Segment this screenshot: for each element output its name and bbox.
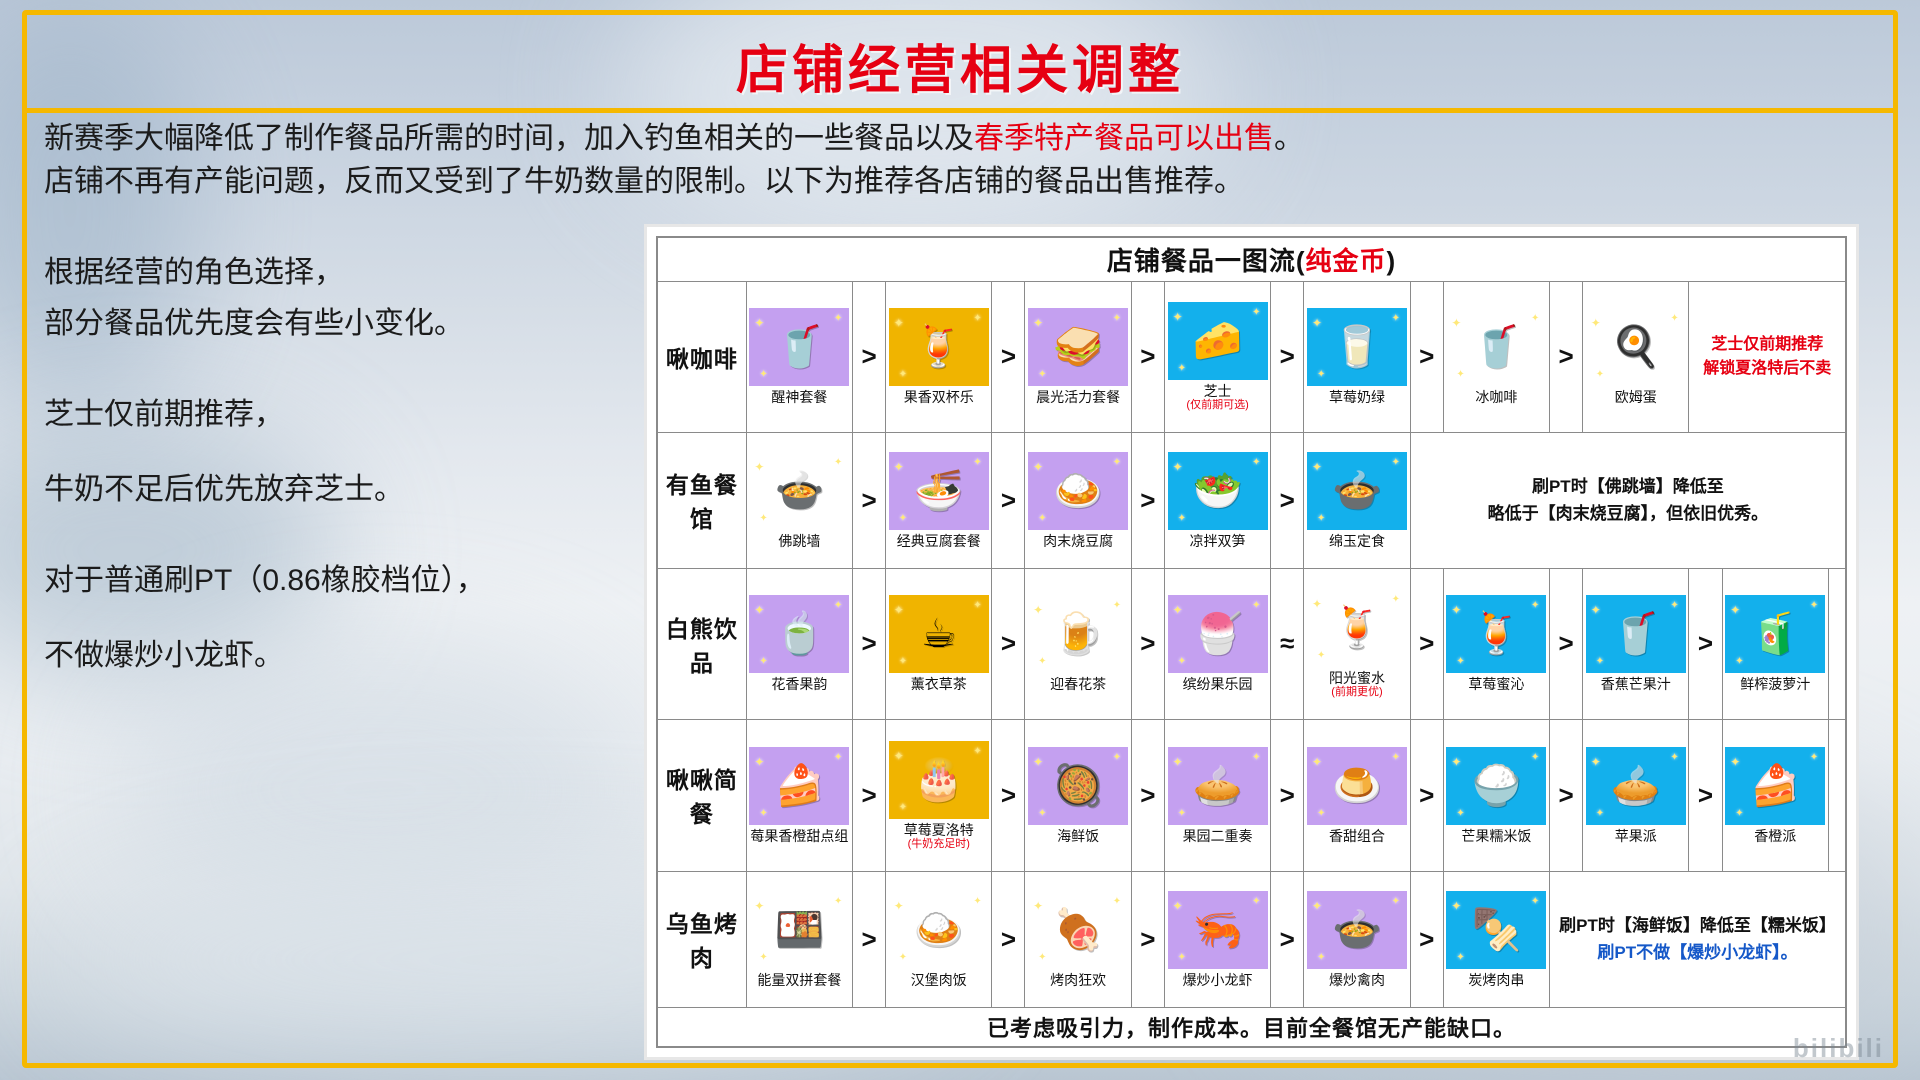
dish-cell[interactable]: 🍺✦✦✦迎春花茶 (1025, 568, 1131, 720)
dish-image: 🍧✦✦✦ (1168, 595, 1268, 673)
priority-arrow: > (1271, 281, 1304, 433)
priority-arrow: > (1410, 720, 1443, 872)
priority-arrow: > (1550, 720, 1583, 872)
dish-cell[interactable]: 🍲✦✦✦佛跳墙 (746, 433, 852, 569)
dish-image: 🧀✦✦✦ (1168, 302, 1268, 380)
sparkle-icon: ✦ (1531, 313, 1539, 324)
sparkle-icon: ✦ (1252, 307, 1260, 318)
page-title: 店铺经营相关调整 (0, 28, 1920, 103)
dish-image: 🍲✦✦✦ (1307, 891, 1407, 969)
sparkle-icon: ✦ (973, 746, 981, 757)
dish-card[interactable]: 🥧✦✦✦苹果派 (1583, 744, 1688, 847)
dish-cell[interactable]: 🍛✦✦✦汉堡肉饭 (886, 871, 992, 1007)
dish-glyph-icon: 🥤 (774, 327, 824, 367)
sparkle-icon: ✦ (1113, 457, 1121, 468)
dish-name-text: 香橙派 (1754, 828, 1796, 844)
row-note (1829, 568, 1847, 720)
shop-name-0: 啾咖啡 (657, 281, 746, 433)
dish-card[interactable]: 🥤✦✦✦香蕉芒果汁 (1583, 592, 1688, 695)
sparkle-icon: ✦ (1591, 316, 1601, 330)
dish-glyph-icon: 🍛 (1053, 471, 1103, 511)
dish-name: 芒果糯米饭 (1460, 827, 1532, 847)
sparkle-icon: ✦ (759, 808, 767, 819)
dish-name-text: 经典豆腐套餐 (897, 533, 981, 549)
sparkle-icon: ✦ (1113, 600, 1121, 611)
sparkle-icon: ✦ (834, 457, 842, 468)
dish-image: 🍹✦✦✦ (1446, 595, 1546, 673)
dish-cell[interactable]: 🧃✦✦✦鲜榨菠萝汁 (1722, 568, 1829, 720)
dish-glyph-icon: 🍵 (774, 614, 824, 654)
intro-line-1: 新赛季大幅降低了制作餐品所需的时间，加入钓鱼相关的一些餐品以及春季特产餐品可以出… (44, 118, 1604, 161)
dish-card[interactable]: 🍖✦✦✦烤肉狂欢 (1025, 888, 1130, 991)
dish-glyph-icon: 🧃 (1750, 614, 1800, 654)
dish-cell[interactable]: 🍵✦✦✦花香果韵 (746, 568, 852, 720)
sparkle-icon: ✦ (894, 899, 904, 913)
sparkle-icon: ✦ (1033, 316, 1043, 330)
sparkle-icon: ✦ (1173, 755, 1183, 769)
priority-arrow: > (992, 720, 1025, 872)
dish-name: 草莓夏洛特(牛奶充足时) (903, 821, 975, 853)
dish-card[interactable]: 🍮✦✦✦香甜组合 (1304, 744, 1409, 847)
dish-card[interactable]: 🍰✦✦✦香橙派 (1723, 744, 1829, 847)
row-note-line-highlight: 解锁夏洛特后不卖 (1697, 357, 1837, 381)
dish-card[interactable]: 🍲✦✦✦佛跳墙 (747, 449, 852, 552)
dish-name: 炭烤肉串 (1467, 971, 1525, 991)
priority-arrow: > (1550, 568, 1583, 720)
dish-name: 香甜组合 (1328, 827, 1386, 847)
notes-panel: 根据经营的角色选择，部分餐品优先度会有些小变化。芝士仅前期推荐，牛奶不足后优先放… (44, 250, 644, 724)
sparkle-icon: ✦ (894, 603, 904, 617)
dish-name-text: 汉堡肉饭 (911, 972, 967, 988)
sparkle-icon: ✦ (1178, 363, 1186, 374)
sparkle-icon: ✦ (1596, 808, 1604, 819)
dish-name: 肉末烧豆腐 (1042, 532, 1114, 552)
dish-glyph-icon: 🍱 (774, 910, 824, 950)
sparkle-icon: ✦ (1113, 313, 1121, 324)
dish-name-text: 炭烤肉串 (1468, 972, 1524, 988)
dish-name-text: 能量双拼套餐 (757, 972, 841, 988)
note-line: 芝士仅前期推荐， (44, 392, 644, 437)
sparkle-icon: ✦ (899, 802, 907, 813)
dish-card[interactable]: 🧀✦✦✦芝士(仅前期可选) (1165, 299, 1270, 414)
dish-name: 鲜榨菠萝汁 (1739, 675, 1811, 695)
priority-arrow: > (853, 871, 886, 1007)
sparkle-icon: ✦ (1810, 600, 1818, 611)
shop-name-2: 白熊饮品 (657, 568, 746, 720)
sparkle-icon: ✦ (1252, 896, 1260, 907)
dish-card[interactable]: 🥧✦✦✦果园二重奏 (1165, 744, 1270, 847)
dish-card[interactable]: 🍧✦✦✦缤纷果乐园 (1165, 592, 1270, 695)
sparkle-icon: ✦ (1317, 952, 1325, 963)
dish-name: 薰衣草茶 (910, 675, 968, 695)
dish-name: 迎春花茶 (1049, 675, 1107, 695)
priority-arrow: > (1689, 568, 1722, 720)
sparkle-icon: ✦ (1033, 899, 1043, 913)
dish-cell[interactable]: 🍚✦✦✦芒果糯米饭 (1443, 720, 1549, 872)
dish-cell[interactable]: 🥪✦✦✦晨光活力套餐 (1025, 281, 1131, 433)
priority-arrow: ≈ (1271, 568, 1304, 720)
sparkle-icon: ✦ (1317, 369, 1325, 380)
table-title-currency: 纯金币 (1305, 246, 1386, 276)
sparkle-icon: ✦ (1456, 369, 1464, 380)
dish-image: 🍺✦✦✦ (1028, 595, 1128, 673)
dish-cell[interactable]: 🍳✦✦✦欧姆蛋 (1583, 281, 1689, 433)
dish-card[interactable]: 🥘✦✦✦海鲜饭 (1025, 744, 1130, 847)
note-block: 芝士仅前期推荐，牛奶不足后优先放弃芝士。 (44, 392, 644, 512)
row-note-line: 略低于【肉末烧豆腐】，但依旧优秀。 (1419, 500, 1837, 527)
table-title-main: 店铺餐品一图流( (1107, 246, 1306, 276)
priority-arrow: > (1131, 720, 1164, 872)
dish-cell[interactable]: 🍱✦✦✦能量双拼套餐 (746, 871, 852, 1007)
sparkle-icon: ✦ (1392, 313, 1400, 324)
sparkle-icon: ✦ (1730, 755, 1740, 769)
dish-cell[interactable]: 🍖✦✦✦烤肉狂欢 (1025, 871, 1131, 1007)
dish-glyph-icon: 🍛 (914, 910, 964, 950)
sparkle-icon: ✦ (1252, 457, 1260, 468)
sparkle-icon: ✦ (1591, 755, 1601, 769)
dish-image: 🍛✦✦✦ (889, 891, 989, 969)
dish-image: 🍲✦✦✦ (749, 452, 849, 530)
dish-cell[interactable]: 🍮✦✦✦香甜组合 (1304, 720, 1410, 872)
dish-card[interactable]: 🎂✦✦✦草莓夏洛特(牛奶充足时) (886, 738, 991, 853)
dish-cell[interactable]: 🥘✦✦✦海鲜饭 (1025, 720, 1131, 872)
note-line: 牛奶不足后优先放弃芝士。 (44, 467, 644, 512)
dish-cell[interactable]: 🍧✦✦✦缤纷果乐园 (1164, 568, 1270, 720)
dish-card[interactable]: 🍹✦✦✦阳光蜜水(前期更优) (1304, 586, 1409, 701)
sparkle-icon: ✦ (1113, 896, 1121, 907)
note-line: 不做爆炒小龙虾。 (44, 633, 644, 678)
dish-cell[interactable]: 🍜✦✦✦经典豆腐套餐 (886, 433, 992, 569)
sparkle-icon: ✦ (759, 656, 767, 667)
sparkle-icon: ✦ (973, 457, 981, 468)
dish-image: 🎂✦✦✦ (889, 741, 989, 819)
dish-cell[interactable]: 🍹✦✦✦草莓蜜沁 (1443, 568, 1549, 720)
dish-cell[interactable]: 🦐✦✦✦爆炒小龙虾 (1164, 871, 1270, 1007)
dish-cell[interactable]: 🍹✦✦✦阳光蜜水(前期更优) (1304, 568, 1410, 720)
dish-cell[interactable]: 🍰✦✦✦莓果香橙甜点组 (746, 720, 852, 872)
dish-glyph-icon: 🍚 (1471, 766, 1521, 806)
dish-name-text: 爆炒禽肉 (1329, 972, 1385, 988)
dish-name-text: 芒果糯米饭 (1461, 828, 1531, 844)
dish-card[interactable]: 🥤✦✦✦冰咖啡 (1444, 305, 1549, 408)
dish-card[interactable]: 🦐✦✦✦爆炒小龙虾 (1165, 888, 1270, 991)
dish-card[interactable]: 🍚✦✦✦芒果糯米饭 (1444, 744, 1549, 847)
dish-glyph-icon: 🍧 (1193, 614, 1243, 654)
dish-cell[interactable]: 🎂✦✦✦草莓夏洛特(牛奶充足时) (886, 720, 992, 872)
sparkle-icon: ✦ (1312, 899, 1322, 913)
priority-arrow: > (992, 433, 1025, 569)
dish-glyph-icon: 🥧 (1611, 766, 1661, 806)
table-title-tail: ) (1387, 246, 1397, 276)
dish-cell[interactable]: 🥧✦✦✦苹果派 (1583, 720, 1689, 872)
table-footer-cell: 已考虑吸引力，制作成本。目前全餐馆无产能缺口。 (657, 1007, 1846, 1047)
dish-cell[interactable]: 🥧✦✦✦果园二重奏 (1164, 720, 1270, 872)
dish-image: 🍮✦✦✦ (1307, 747, 1407, 825)
sparkle-icon: ✦ (1033, 460, 1043, 474)
sparkle-icon: ✦ (1456, 656, 1464, 667)
dish-name: 阳光蜜水(前期更优) (1328, 669, 1386, 701)
recommendation-table: 店铺餐品一图流(纯金币)啾咖啡🥤✦✦✦醒神套餐>🍹✦✦✦果香双杯乐>🥪✦✦✦晨光… (656, 236, 1847, 1048)
dish-card[interactable]: 🍳✦✦✦欧姆蛋 (1583, 305, 1688, 408)
dish-image: 🍚✦✦✦ (1446, 747, 1546, 825)
dish-glyph-icon: 🥘 (1053, 766, 1103, 806)
dish-name-text: 芝士 (1204, 383, 1232, 399)
table-row: 白熊饮品🍵✦✦✦花香果韵>☕✦✦✦薰衣草茶>🍺✦✦✦迎春花茶>🍧✦✦✦缤纷果乐园… (657, 568, 1846, 720)
dish-subnote: (仅前期可选) (1186, 399, 1248, 411)
sparkle-icon: ✦ (1038, 513, 1046, 524)
dish-name: 缤纷果乐园 (1182, 675, 1254, 695)
table-body: 店铺餐品一图流(纯金币)啾咖啡🥤✦✦✦醒神套餐>🍹✦✦✦果香双杯乐>🥪✦✦✦晨光… (657, 237, 1846, 1047)
dish-name: 果香双杯乐 (903, 388, 975, 408)
dish-cell[interactable]: 🍹✦✦✦果香双杯乐 (886, 281, 992, 433)
priority-arrow: > (1410, 871, 1443, 1007)
priority-arrow: > (1410, 568, 1443, 720)
sparkle-icon: ✦ (973, 600, 981, 611)
table-footer-row: 已考虑吸引力，制作成本。目前全餐馆无产能缺口。 (657, 1007, 1846, 1047)
dish-name-text: 草莓奶绿 (1329, 389, 1385, 405)
sparkle-icon: ✦ (1670, 752, 1678, 763)
sparkle-icon: ✦ (1178, 513, 1186, 524)
dish-cell[interactable]: 🥤✦✦✦醒神套餐 (746, 281, 852, 433)
dish-name-text: 莓果香橙甜点组 (750, 828, 848, 844)
sparkle-icon: ✦ (1178, 656, 1186, 667)
sparkle-icon: ✦ (973, 896, 981, 907)
note-line: 对于普通刷PT（0.86橡胶档位）， (44, 558, 644, 603)
dish-name: 欧姆蛋 (1614, 388, 1658, 408)
row-note: 刷PT时【海鲜饭】降低至【糯米饭】刷PT不做【爆炒小龙虾】。 (1550, 871, 1846, 1007)
dish-glyph-icon: 🍹 (1471, 614, 1521, 654)
watermark: bilibili (1793, 1033, 1884, 1064)
sparkle-icon: ✦ (1596, 656, 1604, 667)
sparkle-icon: ✦ (1312, 755, 1322, 769)
sparkle-icon: ✦ (1038, 656, 1046, 667)
dish-image: ☕✦✦✦ (889, 595, 989, 673)
priority-arrow: > (853, 568, 886, 720)
dish-name-text: 草莓蜜沁 (1468, 676, 1524, 692)
dish-card[interactable]: 🍱✦✦✦能量双拼套餐 (747, 888, 852, 991)
dish-glyph-icon: ☕ (921, 614, 957, 654)
dish-name-text: 烤肉狂欢 (1050, 972, 1106, 988)
sparkle-icon: ✦ (1670, 600, 1678, 611)
dish-name: 绵玉定食 (1328, 532, 1386, 552)
dish-card[interactable]: 🍲✦✦✦绵玉定食 (1304, 449, 1409, 552)
priority-arrow: > (992, 871, 1025, 1007)
sparkle-icon: ✦ (1312, 597, 1322, 611)
dish-name: 果园二重奏 (1182, 827, 1254, 847)
dish-name-text: 冰咖啡 (1475, 389, 1517, 405)
dish-image: 🥤✦✦✦ (1446, 308, 1546, 386)
dish-name: 经典豆腐套餐 (896, 532, 982, 552)
sparkle-icon: ✦ (834, 752, 842, 763)
dish-name: 香蕉芒果汁 (1600, 675, 1672, 695)
priority-arrow: > (1689, 720, 1722, 872)
dish-glyph-icon: 🍳 (1611, 327, 1661, 367)
dish-card[interactable]: ☕✦✦✦薰衣草茶 (886, 592, 991, 695)
dish-image: 🍵✦✦✦ (749, 595, 849, 673)
sparkle-icon: ✦ (899, 513, 907, 524)
table-row: 乌鱼烤肉🍱✦✦✦能量双拼套餐>🍛✦✦✦汉堡肉饭>🍖✦✦✦烤肉狂欢>🦐✦✦✦爆炒小… (657, 871, 1846, 1007)
dish-cell[interactable]: 🧀✦✦✦芝士(仅前期可选) (1164, 281, 1270, 433)
table-row: 啾啾简餐🍰✦✦✦莓果香橙甜点组>🎂✦✦✦草莓夏洛特(牛奶充足时)>🥘✦✦✦海鲜饭… (657, 720, 1846, 872)
priority-arrow: > (1271, 871, 1304, 1007)
dish-name-text: 花香果韵 (771, 676, 827, 692)
sparkle-icon: ✦ (754, 603, 764, 617)
sparkle-icon: ✦ (759, 513, 767, 524)
dish-name-text: 晨光活力套餐 (1036, 389, 1120, 405)
shop-name-4: 乌鱼烤肉 (657, 871, 746, 1007)
dish-card[interactable]: 🍲✦✦✦爆炒禽肉 (1304, 888, 1409, 991)
dish-name-text: 凉拌双笋 (1190, 533, 1246, 549)
dish-name-text: 佛跳墙 (778, 533, 820, 549)
dish-card[interactable]: 🥪✦✦✦晨光活力套餐 (1025, 305, 1130, 408)
dish-glyph-icon: 🍰 (774, 766, 824, 806)
dish-name-text: 香甜组合 (1329, 828, 1385, 844)
dish-image: 🍰✦✦✦ (1725, 747, 1825, 825)
dish-name: 佛跳墙 (777, 532, 821, 552)
dish-cell[interactable]: 🍢✦✦✦炭烤肉串 (1443, 871, 1549, 1007)
dish-glyph-icon: 🥤 (1611, 614, 1661, 654)
priority-arrow: > (1131, 433, 1164, 569)
sparkle-icon: ✦ (1173, 310, 1183, 324)
dish-glyph-icon: 🥤 (1471, 327, 1521, 367)
sparkle-icon: ✦ (1392, 594, 1400, 605)
dish-card[interactable]: 🍹✦✦✦果香双杯乐 (886, 305, 991, 408)
sparkle-icon: ✦ (1312, 460, 1322, 474)
row-note (1829, 720, 1847, 872)
dish-cell[interactable]: 🍲✦✦✦爆炒禽肉 (1304, 871, 1410, 1007)
dish-name-text: 海鲜饭 (1057, 828, 1099, 844)
dish-card[interactable]: 🍢✦✦✦炭烤肉串 (1444, 888, 1549, 991)
dish-glyph-icon: 🍹 (914, 327, 964, 367)
sparkle-icon: ✦ (1531, 896, 1539, 907)
dish-image: 🍖✦✦✦ (1028, 891, 1128, 969)
sparkle-icon: ✦ (1033, 603, 1043, 617)
sparkle-icon: ✦ (1252, 752, 1260, 763)
dish-card[interactable]: 🥛✦✦✦草莓奶绿 (1304, 305, 1409, 408)
priority-arrow: > (853, 281, 886, 433)
sparkle-icon: ✦ (1392, 752, 1400, 763)
dish-cell[interactable]: 🥛✦✦✦草莓奶绿 (1304, 281, 1410, 433)
dish-glyph-icon: 🥗 (1193, 471, 1243, 511)
dish-card[interactable]: 🍜✦✦✦经典豆腐套餐 (886, 449, 991, 552)
row-note-line: 刷PT不做【爆炒小龙虾】。 (1558, 939, 1837, 966)
dish-name: 汉堡肉饭 (910, 971, 968, 991)
dish-cell[interactable]: 🍛✦✦✦肉末烧豆腐 (1025, 433, 1131, 569)
sparkle-icon: ✦ (1173, 603, 1183, 617)
sparkle-icon: ✦ (1178, 952, 1186, 963)
dish-glyph-icon: 🍜 (914, 471, 964, 511)
sparkle-icon: ✦ (1670, 313, 1678, 324)
dish-name: 莓果香橙甜点组 (749, 827, 849, 847)
dish-name: 冰咖啡 (1474, 388, 1518, 408)
dish-name-text: 绵玉定食 (1329, 533, 1385, 549)
note-line: 部分餐品优先度会有些小变化。 (44, 301, 644, 346)
sparkle-icon: ✦ (1178, 808, 1186, 819)
sparkle-icon: ✦ (754, 460, 764, 474)
table-row: 有鱼餐馆🍲✦✦✦佛跳墙>🍜✦✦✦经典豆腐套餐>🍛✦✦✦肉末烧豆腐>🥗✦✦✦凉拌双… (657, 433, 1846, 569)
dish-glyph-icon: 🦐 (1193, 910, 1243, 950)
dish-card[interactable]: 🍛✦✦✦肉末烧豆腐 (1025, 449, 1130, 552)
dish-image: 🧃✦✦✦ (1725, 595, 1825, 673)
sparkle-icon: ✦ (1252, 600, 1260, 611)
priority-arrow: > (1550, 281, 1583, 433)
priority-arrow: > (853, 433, 886, 569)
table-title-cell: 店铺餐品一图流(纯金币) (657, 237, 1846, 281)
sparkle-icon: ✦ (1451, 755, 1461, 769)
recommendation-table-panel: 店铺餐品一图流(纯金币)啾咖啡🥤✦✦✦醒神套餐>🍹✦✦✦果香双杯乐>🥪✦✦✦晨光… (644, 224, 1859, 1060)
sparkle-icon: ✦ (1038, 369, 1046, 380)
dish-name: 能量双拼套餐 (756, 971, 842, 991)
dish-card[interactable]: 🍛✦✦✦汉堡肉饭 (886, 888, 991, 991)
note-block: 根据经营的角色选择，部分餐品优先度会有些小变化。 (44, 250, 644, 346)
sparkle-icon: ✦ (1392, 457, 1400, 468)
dish-card[interactable]: 🍵✦✦✦花香果韵 (747, 592, 852, 695)
priority-arrow: > (992, 281, 1025, 433)
sparkle-icon: ✦ (1456, 952, 1464, 963)
sparkle-icon: ✦ (1392, 896, 1400, 907)
sparkle-icon: ✦ (894, 316, 904, 330)
sparkle-icon: ✦ (1456, 808, 1464, 819)
dish-name: 草莓奶绿 (1328, 388, 1386, 408)
intro-line-1b: 。 (1274, 122, 1304, 155)
dish-image: 🍹✦✦✦ (889, 308, 989, 386)
dish-cell[interactable]: ☕✦✦✦薰衣草茶 (886, 568, 992, 720)
priority-arrow: > (992, 568, 1025, 720)
dish-card[interactable]: 🥤✦✦✦醒神套餐 (747, 305, 852, 408)
dish-name: 晨光活力套餐 (1035, 388, 1121, 408)
dish-card[interactable]: 🥗✦✦✦凉拌双笋 (1165, 449, 1270, 552)
dish-name: 爆炒禽肉 (1328, 971, 1386, 991)
sparkle-icon: ✦ (1596, 369, 1604, 380)
dish-card[interactable]: 🍰✦✦✦莓果香橙甜点组 (747, 744, 852, 847)
dish-cell[interactable]: 🥤✦✦✦香蕉芒果汁 (1583, 568, 1689, 720)
sparkle-icon: ✦ (759, 369, 767, 380)
sparkle-icon: ✦ (894, 460, 904, 474)
dish-card[interactable]: 🧃✦✦✦鲜榨菠萝汁 (1723, 592, 1829, 695)
dish-glyph-icon: 🍮 (1332, 766, 1382, 806)
dish-image: 🥛✦✦✦ (1307, 308, 1407, 386)
dish-card[interactable]: 🍺✦✦✦迎春花茶 (1025, 592, 1130, 695)
dish-name: 花香果韵 (770, 675, 828, 695)
sparkle-icon: ✦ (1038, 952, 1046, 963)
dish-glyph-icon: 🍺 (1053, 614, 1103, 654)
dish-image: 🍰✦✦✦ (749, 747, 849, 825)
sparkle-icon: ✦ (1810, 752, 1818, 763)
dish-cell[interactable]: 🍲✦✦✦绵玉定食 (1304, 433, 1410, 569)
dish-glyph-icon: 🍲 (1332, 471, 1382, 511)
dish-cell[interactable]: 🥗✦✦✦凉拌双笋 (1164, 433, 1270, 569)
sparkle-icon: ✦ (894, 749, 904, 763)
dish-cell[interactable]: 🍰✦✦✦香橙派 (1722, 720, 1829, 872)
row-note-line-highlight: 芝士仅前期推荐 (1697, 333, 1837, 357)
dish-name: 醒神套餐 (770, 388, 828, 408)
sparkle-icon: ✦ (1038, 808, 1046, 819)
dish-cell[interactable]: 🥤✦✦✦冰咖啡 (1443, 281, 1549, 433)
dish-name: 爆炒小龙虾 (1182, 971, 1254, 991)
row-note-line: 刷PT时【海鲜饭】降低至【糯米饭】 (1558, 912, 1837, 939)
dish-name-text: 苹果派 (1615, 828, 1657, 844)
sparkle-icon: ✦ (973, 313, 981, 324)
dish-glyph-icon: 🍖 (1053, 910, 1103, 950)
dish-image: 🦐✦✦✦ (1168, 891, 1268, 969)
dish-glyph-icon: 🥪 (1053, 327, 1103, 367)
dish-name-text: 草莓夏洛特 (904, 822, 974, 838)
sparkle-icon: ✦ (834, 600, 842, 611)
sparkle-icon: ✦ (1317, 808, 1325, 819)
dish-card[interactable]: 🍹✦✦✦草莓蜜沁 (1444, 592, 1549, 695)
dish-image: 🥧✦✦✦ (1168, 747, 1268, 825)
sparkle-icon: ✦ (754, 899, 764, 913)
